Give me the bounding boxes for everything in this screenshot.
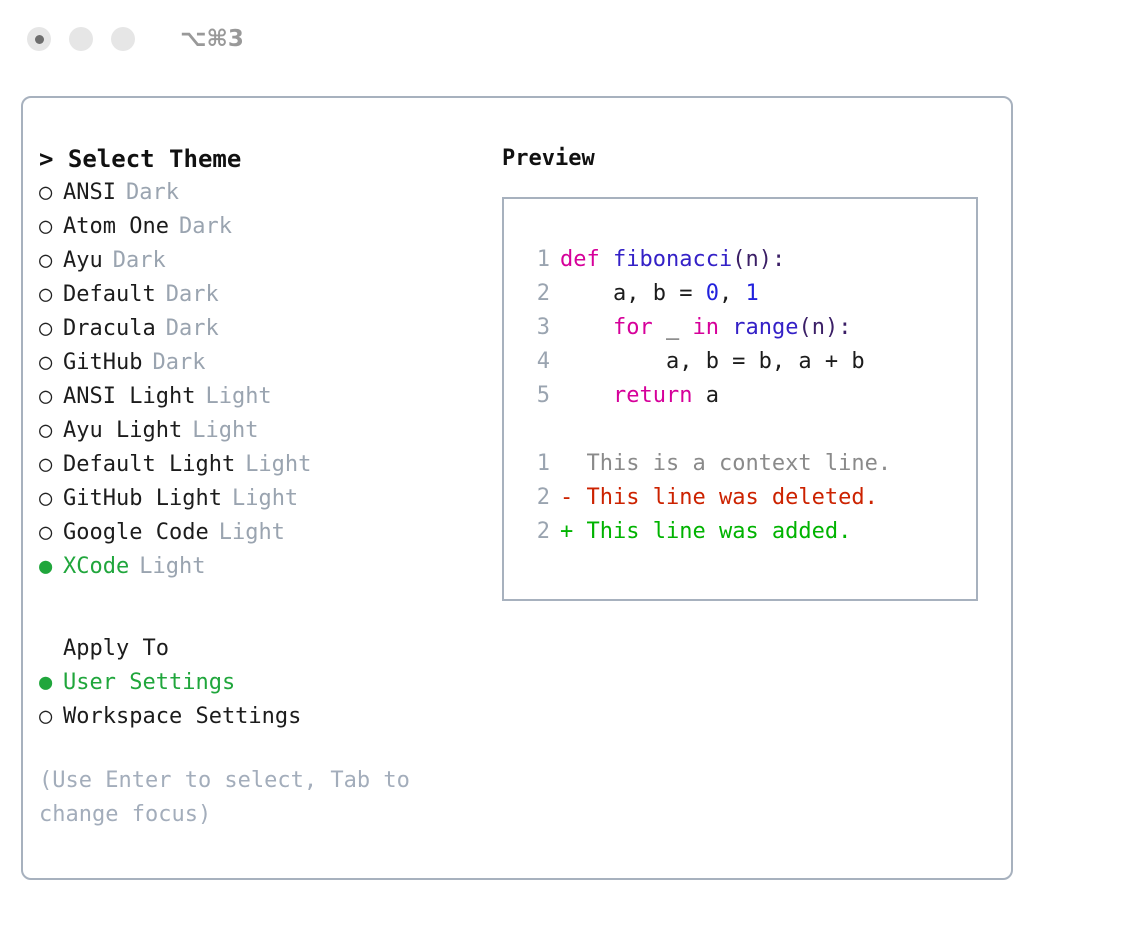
- theme-kind-badge: Dark: [113, 244, 166, 278]
- keyboard-shortcut-label: ⌥⌘3: [180, 26, 244, 52]
- diff-marker: +: [560, 515, 587, 549]
- theme-name: Atom One: [63, 210, 169, 244]
- theme-kind-badge: Light: [139, 550, 205, 584]
- code-line: 1def fibonacci(n):: [520, 243, 976, 277]
- preview-box: 1def fibonacci(n):2 a, b = 0, 13 for _ i…: [502, 197, 978, 601]
- code-token-pun: (n):: [798, 315, 851, 340]
- theme-kind-badge: Light: [219, 516, 285, 550]
- theme-name: Ayu: [63, 244, 103, 278]
- theme-option-xcode[interactable]: ●XCodeLight: [39, 550, 489, 584]
- theme-option-ansi-light[interactable]: ○ANSI LightLight: [39, 380, 489, 414]
- code-token-kw: return: [560, 383, 706, 408]
- app-window: ⌥⌘3 > Select Theme ○ANSIDark○Atom OneDar…: [0, 0, 1140, 934]
- line-number: 5: [520, 379, 550, 413]
- apply-to-heading: Apply To: [39, 632, 489, 666]
- theme-name: Default: [63, 278, 156, 312]
- theme-kind-badge: Dark: [179, 210, 232, 244]
- theme-name: Ayu Light: [63, 414, 182, 448]
- radio-unselected-icon[interactable]: ○: [39, 448, 63, 482]
- theme-selector-column: > Select Theme ○ANSIDark○Atom OneDark○Ay…: [39, 142, 489, 832]
- theme-kind-badge: Dark: [166, 312, 219, 346]
- apply-to-list[interactable]: ●User Settings○Workspace Settings: [39, 666, 489, 734]
- radio-unselected-icon[interactable]: ○: [39, 380, 63, 414]
- code-text: for _ in range(n):: [560, 311, 851, 345]
- diff-marker: -: [560, 481, 587, 515]
- window-controls: [27, 27, 135, 51]
- keyboard-hint-text: (Use Enter to select, Tab to change focu…: [39, 764, 439, 832]
- theme-list[interactable]: ○ANSIDark○Atom OneDark○AyuDark○DefaultDa…: [39, 176, 489, 584]
- radio-selected-icon[interactable]: ●: [39, 666, 63, 700]
- code-text: return a: [560, 379, 719, 413]
- code-token-kw: for: [560, 315, 666, 340]
- code-line: 4 a, b = b, a + b: [520, 345, 976, 379]
- radio-unselected-icon[interactable]: ○: [39, 244, 63, 278]
- theme-option-google-code[interactable]: ○Google CodeLight: [39, 516, 489, 550]
- theme-name: GitHub Light: [63, 482, 222, 516]
- apply-to-option-user-settings[interactable]: ●User Settings: [39, 666, 489, 700]
- diff-marker: [560, 447, 587, 481]
- line-number: 4: [520, 345, 550, 379]
- theme-kind-badge: Dark: [166, 278, 219, 312]
- radio-unselected-icon[interactable]: ○: [39, 516, 63, 550]
- theme-name: ANSI Light: [63, 380, 195, 414]
- code-token-kw: in: [692, 315, 732, 340]
- diff-line-del: 2- This line was deleted.: [520, 481, 976, 515]
- preview-column: Preview 1def fibonacci(n):2 a, b = 0, 13…: [502, 142, 992, 601]
- code-token-var: a: [706, 383, 719, 408]
- theme-kind-badge: Light: [232, 482, 298, 516]
- diff-text: This line was deleted.: [587, 481, 878, 515]
- code-token-fn: range: [732, 315, 798, 340]
- theme-kind-badge: Dark: [152, 346, 205, 380]
- window-dot-third-icon[interactable]: [111, 27, 135, 51]
- theme-name: Default Light: [63, 448, 235, 482]
- code-token-pun: (: [732, 247, 745, 272]
- code-line: 3 for _ in range(n):: [520, 311, 976, 345]
- code-token-fn: fibonacci: [613, 247, 732, 272]
- radio-unselected-icon[interactable]: ○: [39, 414, 63, 448]
- code-token-pun: n: [745, 247, 758, 272]
- theme-option-ayu[interactable]: ○AyuDark: [39, 244, 489, 278]
- diff-text: This is a context line.: [587, 447, 892, 481]
- theme-kind-badge: Light: [205, 380, 271, 414]
- line-number: 2: [520, 277, 550, 311]
- radio-unselected-icon[interactable]: ○: [39, 176, 63, 210]
- diff-sample: 1 This is a context line.2- This line wa…: [520, 447, 976, 549]
- theme-option-default-light[interactable]: ○Default LightLight: [39, 448, 489, 482]
- radio-unselected-icon[interactable]: ○: [39, 700, 63, 734]
- theme-option-dracula[interactable]: ○DraculaDark: [39, 312, 489, 346]
- code-token-num: 1: [745, 281, 758, 306]
- radio-unselected-icon[interactable]: ○: [39, 482, 63, 516]
- theme-kind-badge: Light: [245, 448, 311, 482]
- theme-option-atom-one[interactable]: ○Atom OneDark: [39, 210, 489, 244]
- code-text: a, b = b, a + b: [560, 345, 865, 379]
- code-text: def fibonacci(n):: [560, 243, 785, 277]
- diff-line-ctx: 1 This is a context line.: [520, 447, 976, 481]
- theme-option-default[interactable]: ○DefaultDark: [39, 278, 489, 312]
- preview-heading: Preview: [502, 142, 992, 176]
- code-token-var: a, b = b, a + b: [560, 349, 865, 374]
- theme-name: Google Code: [63, 516, 209, 550]
- theme-option-github[interactable]: ○GitHubDark: [39, 346, 489, 380]
- window-dot-active-icon[interactable]: [27, 27, 51, 51]
- theme-name: XCode: [63, 550, 129, 584]
- window-dot-active-inner: [35, 35, 44, 44]
- code-token-kw: def: [560, 247, 613, 272]
- theme-name: GitHub: [63, 346, 142, 380]
- code-token-num: 0: [706, 281, 719, 306]
- code-token-var: _: [666, 315, 693, 340]
- radio-unselected-icon[interactable]: ○: [39, 210, 63, 244]
- apply-to-option-workspace-settings[interactable]: ○Workspace Settings: [39, 700, 489, 734]
- radio-unselected-icon[interactable]: ○: [39, 346, 63, 380]
- theme-option-ansi[interactable]: ○ANSIDark: [39, 176, 489, 210]
- theme-option-ayu-light[interactable]: ○Ayu LightLight: [39, 414, 489, 448]
- line-number: 3: [520, 311, 550, 345]
- apply-to-label: Workspace Settings: [63, 700, 301, 734]
- diff-text: This line was added.: [587, 515, 852, 549]
- title-bar: ⌥⌘3: [0, 0, 1140, 78]
- line-number: 2: [520, 515, 550, 549]
- radio-unselected-icon[interactable]: ○: [39, 312, 63, 346]
- main-panel: > Select Theme ○ANSIDark○Atom OneDark○Ay…: [21, 96, 1013, 880]
- code-token-var: a, b =: [560, 281, 706, 306]
- code-token-var: ,: [719, 281, 746, 306]
- radio-unselected-icon[interactable]: ○: [39, 278, 63, 312]
- code-line: 2 a, b = 0, 1: [520, 277, 976, 311]
- code-token-pun: ):: [759, 247, 786, 272]
- window-dot-second-icon[interactable]: [69, 27, 93, 51]
- code-text: a, b = 0, 1: [560, 277, 759, 311]
- theme-name: ANSI: [63, 176, 116, 210]
- theme-option-github-light[interactable]: ○GitHub LightLight: [39, 482, 489, 516]
- line-number: 1: [520, 243, 550, 277]
- theme-kind-badge: Dark: [126, 176, 179, 210]
- theme-name: Dracula: [63, 312, 156, 346]
- code-sample: 1def fibonacci(n):2 a, b = 0, 13 for _ i…: [520, 243, 976, 413]
- line-number: 1: [520, 447, 550, 481]
- theme-kind-badge: Light: [192, 414, 258, 448]
- code-line: 5 return a: [520, 379, 976, 413]
- radio-selected-icon[interactable]: ●: [39, 550, 63, 584]
- diff-line-add: 2+ This line was added.: [520, 515, 976, 549]
- select-theme-heading: > Select Theme: [39, 142, 489, 176]
- line-number: 2: [520, 481, 550, 515]
- apply-to-label: User Settings: [63, 666, 235, 700]
